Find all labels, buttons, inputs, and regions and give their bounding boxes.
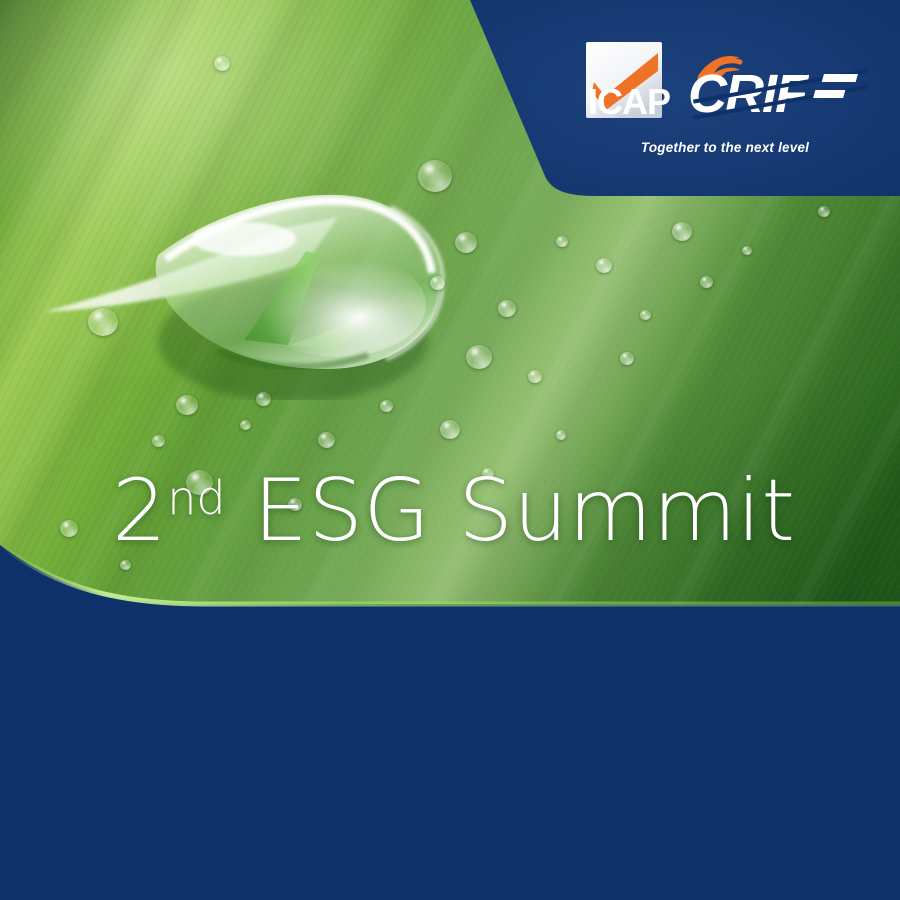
small-droplet bbox=[152, 435, 165, 447]
title-ordinal-suffix: nd bbox=[167, 471, 225, 525]
small-droplet bbox=[700, 276, 713, 288]
svg-text:ICAP: ICAP bbox=[588, 81, 670, 122]
crif-logo[interactable]: CRIF bbox=[682, 46, 868, 130]
small-droplet bbox=[430, 276, 445, 290]
small-droplet bbox=[318, 432, 335, 448]
small-droplet bbox=[120, 560, 131, 570]
small-droplet bbox=[596, 258, 612, 273]
small-droplet bbox=[620, 352, 634, 365]
small-droplet bbox=[60, 520, 78, 537]
poster-canvas: ICAP CRIF bbox=[0, 0, 900, 900]
small-droplet bbox=[556, 430, 566, 440]
small-droplet bbox=[440, 420, 460, 439]
small-droplet bbox=[88, 308, 118, 336]
small-droplet bbox=[742, 246, 752, 255]
small-droplet bbox=[176, 395, 198, 415]
small-droplet bbox=[556, 236, 568, 247]
small-droplet bbox=[214, 56, 230, 71]
logo-row: ICAP CRIF bbox=[578, 36, 868, 136]
brand-logo-lockup[interactable]: ICAP CRIF bbox=[578, 36, 868, 166]
brand-tagline: Together to the next level bbox=[580, 140, 870, 155]
small-droplet bbox=[672, 222, 692, 241]
small-droplet bbox=[240, 420, 251, 430]
small-droplet bbox=[818, 206, 830, 217]
poster-title: 2nd ESG Summit bbox=[112, 468, 796, 554]
small-droplet bbox=[640, 310, 651, 320]
small-droplet bbox=[380, 400, 393, 412]
small-droplet bbox=[418, 160, 452, 192]
title-rest: ESG Summit bbox=[226, 461, 796, 561]
small-droplet bbox=[528, 370, 542, 383]
title-number: 2 bbox=[112, 461, 167, 561]
small-droplet bbox=[498, 300, 516, 317]
icap-logo[interactable]: ICAP bbox=[578, 36, 678, 136]
small-droplet bbox=[466, 345, 492, 369]
small-droplet bbox=[455, 232, 477, 253]
small-droplet bbox=[256, 392, 271, 406]
